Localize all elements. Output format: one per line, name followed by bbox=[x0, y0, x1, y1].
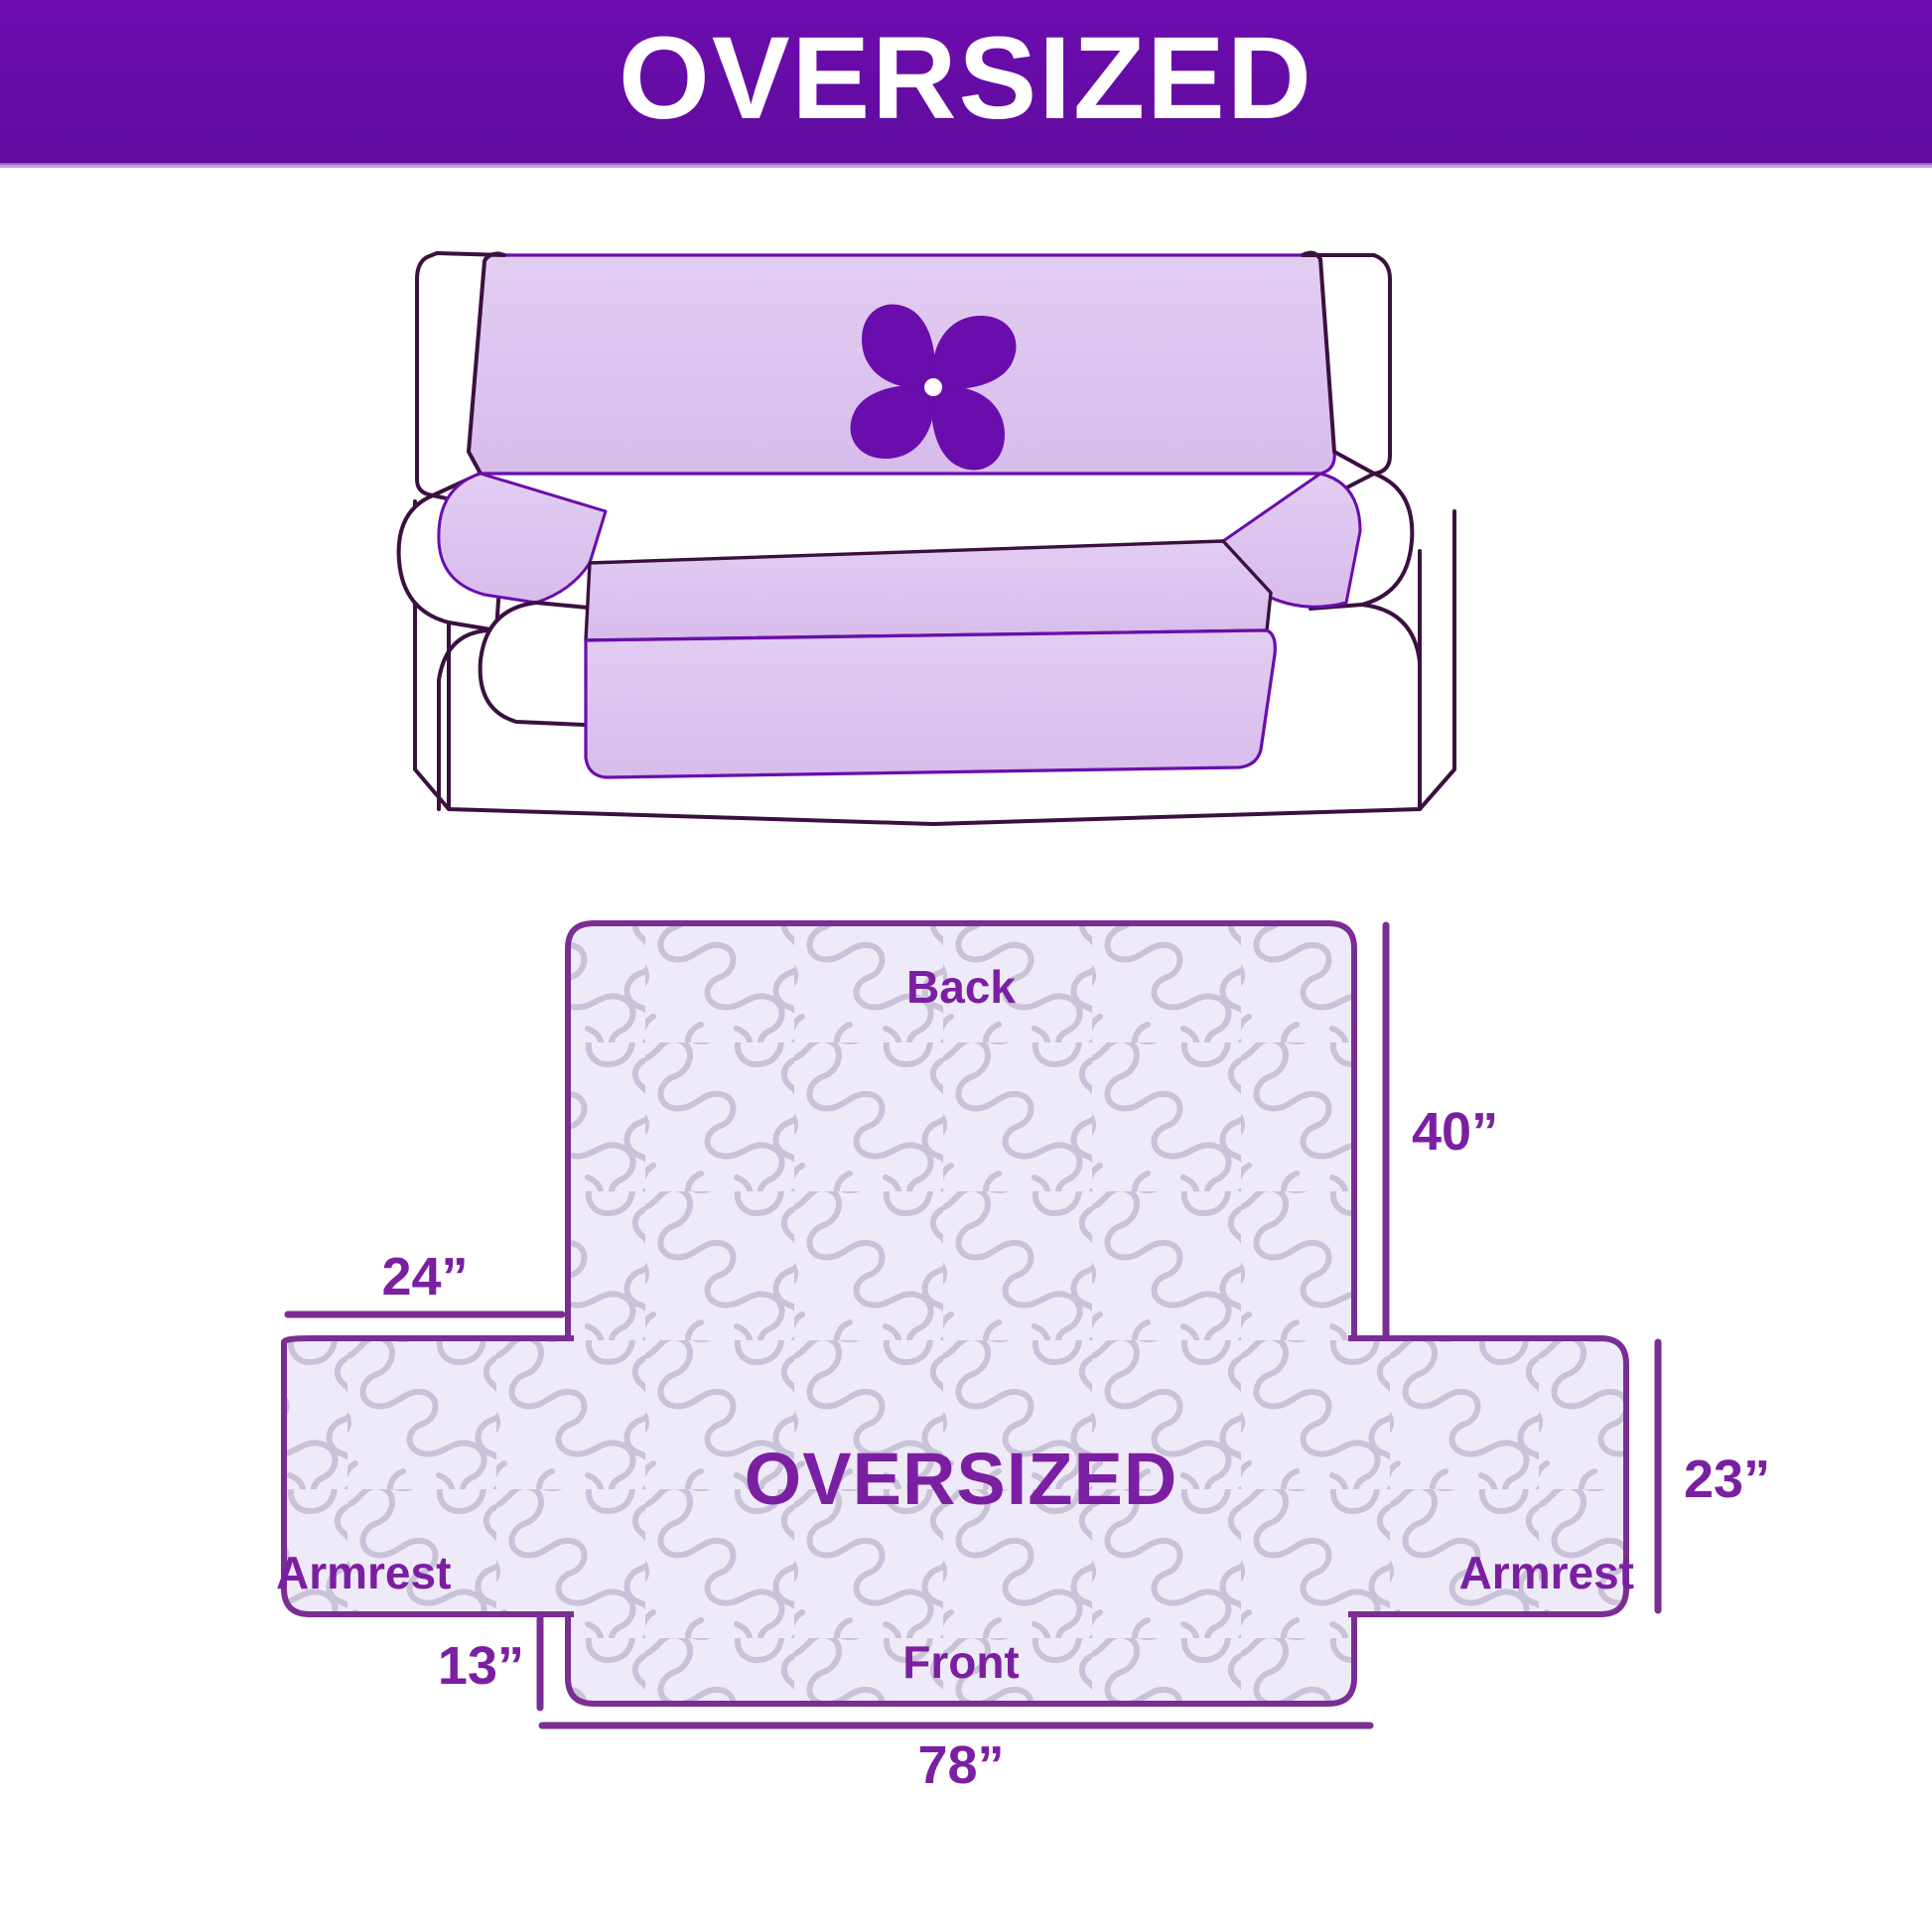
dimension-armrest-depth-value: 23” bbox=[1684, 1449, 1770, 1509]
label-armrest-left: Armrest bbox=[276, 1547, 451, 1598]
dimension-back-height-value: 40” bbox=[1412, 1102, 1498, 1162]
dimension-total-width-value: 78” bbox=[917, 1735, 1004, 1795]
sofa-seat-skirt bbox=[586, 630, 1275, 777]
dimension-back-height: 40” bbox=[1386, 925, 1498, 1336]
dimension-armrest-offset: 24” bbox=[288, 1247, 562, 1314]
label-front: Front bbox=[902, 1636, 1020, 1688]
header-banner: OVERSIZED bbox=[0, 0, 1932, 165]
page-title: OVERSIZED bbox=[619, 20, 1313, 145]
cover-dimension-diagram: Back OVERSIZED Armrest Armrest Front 40”… bbox=[199, 894, 1932, 1896]
banner-underline bbox=[0, 163, 1932, 168]
dimension-armrest-offset-value: 24” bbox=[381, 1247, 468, 1307]
dimension-armrest-depth: 23” bbox=[1658, 1342, 1770, 1610]
dimension-total-width: 78” bbox=[542, 1725, 1370, 1795]
label-armrest-right: Armrest bbox=[1459, 1547, 1634, 1598]
label-back: Back bbox=[906, 961, 1016, 1013]
sofa-illustration bbox=[377, 213, 1618, 839]
dimension-front-skirt: 13” bbox=[438, 1618, 540, 1708]
dimension-front-skirt-value: 13” bbox=[438, 1636, 524, 1696]
label-center-oversized: OVERSIZED bbox=[745, 1438, 1178, 1520]
pinwheel-hub-icon bbox=[924, 378, 942, 396]
